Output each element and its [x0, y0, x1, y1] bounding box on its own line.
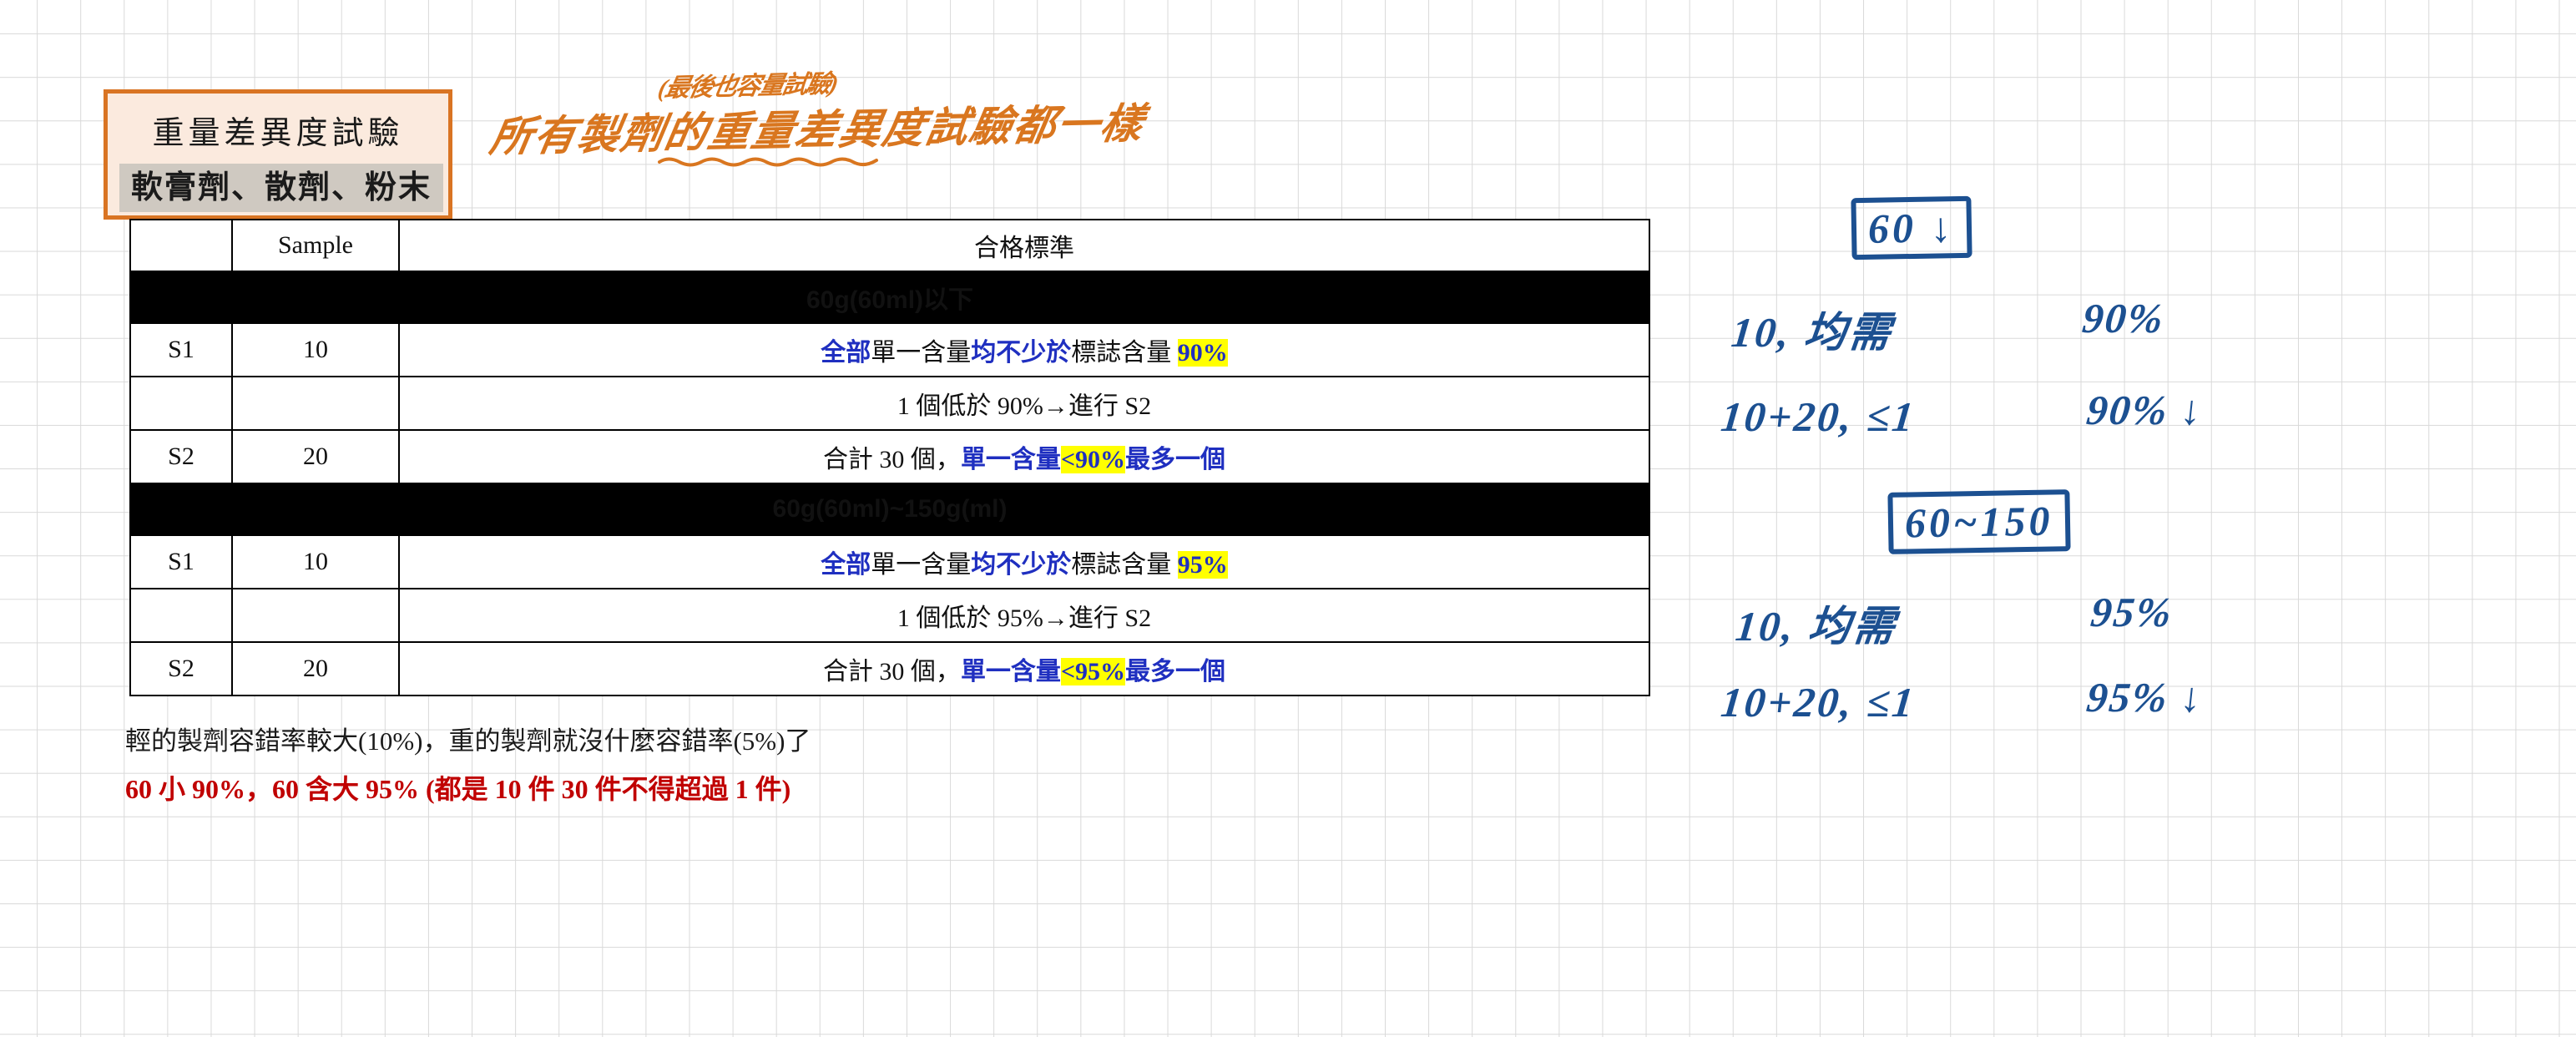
blue-note-2-line1-left: 10, 均需: [1733, 593, 1901, 653]
blue-note-1-line2-right: 90% ↓: [2084, 386, 2205, 434]
table-row: S110全部單一含量均不少於標誌含量 90%: [130, 323, 1649, 377]
stage-cell: S1: [130, 535, 232, 589]
table-header-sample: Sample: [232, 220, 399, 271]
stage-cell: [130, 377, 232, 430]
blue-note-1-line1-left: 10, 均需: [1729, 299, 1897, 359]
stage-cell: S2: [130, 430, 232, 483]
sample-count-cell: 20: [232, 430, 399, 483]
criteria-segment: 單一含量: [871, 339, 971, 367]
stage-cell: S1: [130, 323, 232, 377]
criteria-cell: 全部單一含量均不少於標誌含量 95%: [399, 535, 1649, 589]
criteria-segment: 全部: [821, 551, 871, 579]
weight-variation-spec-table: Sample合格標準60g(60ml)以下S110全部單一含量均不少於標誌含量 …: [129, 219, 1650, 696]
criteria-segment: 1 個低於 90%→進行 S2: [897, 392, 1151, 420]
blue-note-2-line2-right: 95% ↓: [2084, 673, 2205, 721]
criteria-cell: 1 個低於 90%→進行 S2: [399, 377, 1649, 430]
criteria-segment: 合計 30 個，: [823, 446, 961, 473]
criteria-segment: 90%: [1178, 339, 1228, 367]
criteria-cell: 合計 30 個，單一含量<95%最多一個: [399, 642, 1649, 696]
orange-handwritten-annotation: (最後也容量試驗) 所有製劑的重量差異度試驗都一樣: [492, 65, 1077, 174]
stage-cell: S2: [130, 642, 232, 696]
orange-main-note: 所有製劑的重量差異度試驗都一樣: [486, 90, 1149, 164]
criteria-segment: 單一含量: [961, 658, 1061, 685]
table-row: 1 個低於 95%→進行 S2: [130, 589, 1649, 642]
criteria-segment: 標誌含量: [1071, 551, 1178, 579]
title-card: 重量差異度試驗 軟膏劑、散劑、粉末: [104, 89, 452, 220]
sample-count-cell: 10: [232, 535, 399, 589]
stage-cell: [130, 589, 232, 642]
blue-box-label-2: 60~150: [1887, 489, 2070, 554]
criteria-segment: 均不少於: [971, 339, 1071, 367]
criteria-cell: 全部單一含量均不少於標誌含量 90%: [399, 323, 1649, 377]
table-row: 1 個低於 90%→進行 S2: [130, 377, 1649, 430]
table-section-band: 60g(60ml)~150g(ml): [130, 483, 1649, 535]
criteria-segment: <90%: [1061, 446, 1125, 473]
criteria-segment: 全部: [821, 339, 871, 367]
blue-note-1-line2-left: 10+20, ≤1: [1719, 392, 1918, 441]
criteria-segment: 1 個低於 95%→進行 S2: [897, 604, 1151, 632]
orange-underline-squiggle: [658, 155, 883, 167]
table-header-row: Sample合格標準: [130, 220, 1649, 271]
blue-note-2-line2-left: 10+20, ≤1: [1719, 678, 1918, 726]
criteria-cell: 1 個低於 95%→進行 S2: [399, 589, 1649, 642]
note-canvas: 重量差異度試驗 軟膏劑、散劑、粉末 (最後也容量試驗) 所有製劑的重量差異度試驗…: [0, 0, 2576, 1037]
criteria-segment: 最多一個: [1125, 658, 1225, 685]
table-header-criteria: 合格標準: [399, 220, 1649, 271]
criteria-segment: 最多一個: [1125, 446, 1225, 473]
criteria-segment: <95%: [1061, 658, 1125, 685]
criteria-segment: 標誌含量: [1071, 339, 1178, 367]
page-title: 重量差異度試驗: [108, 107, 448, 153]
sample-count-cell: 20: [232, 642, 399, 696]
criteria-segment: 95%: [1178, 551, 1228, 579]
table-row: S220合計 30 個，單一含量<95%最多一個: [130, 642, 1649, 696]
footnote-red: 60 小 90%，60 含大 95% (都是 10 件 30 件不得超過 1 件…: [125, 768, 790, 807]
section-band-label-0: 60g(60ml)以下: [130, 271, 1649, 323]
table-row: S110全部單一含量均不少於標誌含量 95%: [130, 535, 1649, 589]
criteria-segment: 合計 30 個，: [823, 658, 961, 685]
sample-count-cell: [232, 589, 399, 642]
sample-count-cell: [232, 377, 399, 430]
section-band-label-1: 60g(60ml)~150g(ml): [130, 483, 1649, 535]
criteria-cell: 合計 30 個，單一含量<90%最多一個: [399, 430, 1649, 483]
criteria-segment: 單一含量: [961, 446, 1061, 473]
table-row: S220合計 30 個，單一含量<90%最多一個: [130, 430, 1649, 483]
criteria-segment: 均不少於: [971, 551, 1071, 579]
criteria-segment: 單一含量: [871, 551, 971, 579]
sample-count-cell: 10: [232, 323, 399, 377]
blue-note-box-2: 60~150: [1888, 491, 2070, 553]
table-header-blank: [130, 220, 232, 271]
blue-box-label-1: 60 ↓: [1851, 196, 1972, 260]
title-subtitle: 軟膏劑、散劑、粉末: [119, 164, 443, 212]
blue-note-box-1: 60 ↓: [1851, 197, 1972, 259]
table-section-band: 60g(60ml)以下: [130, 271, 1649, 323]
blue-note-1-line1-right: 90%: [2080, 294, 2167, 342]
footnote-black: 輕的製劑容錯率較大(10%)，重的製劑就沒什麼容錯率(5%)了: [125, 720, 811, 757]
blue-note-2-line1-right: 95%: [2089, 588, 2175, 636]
